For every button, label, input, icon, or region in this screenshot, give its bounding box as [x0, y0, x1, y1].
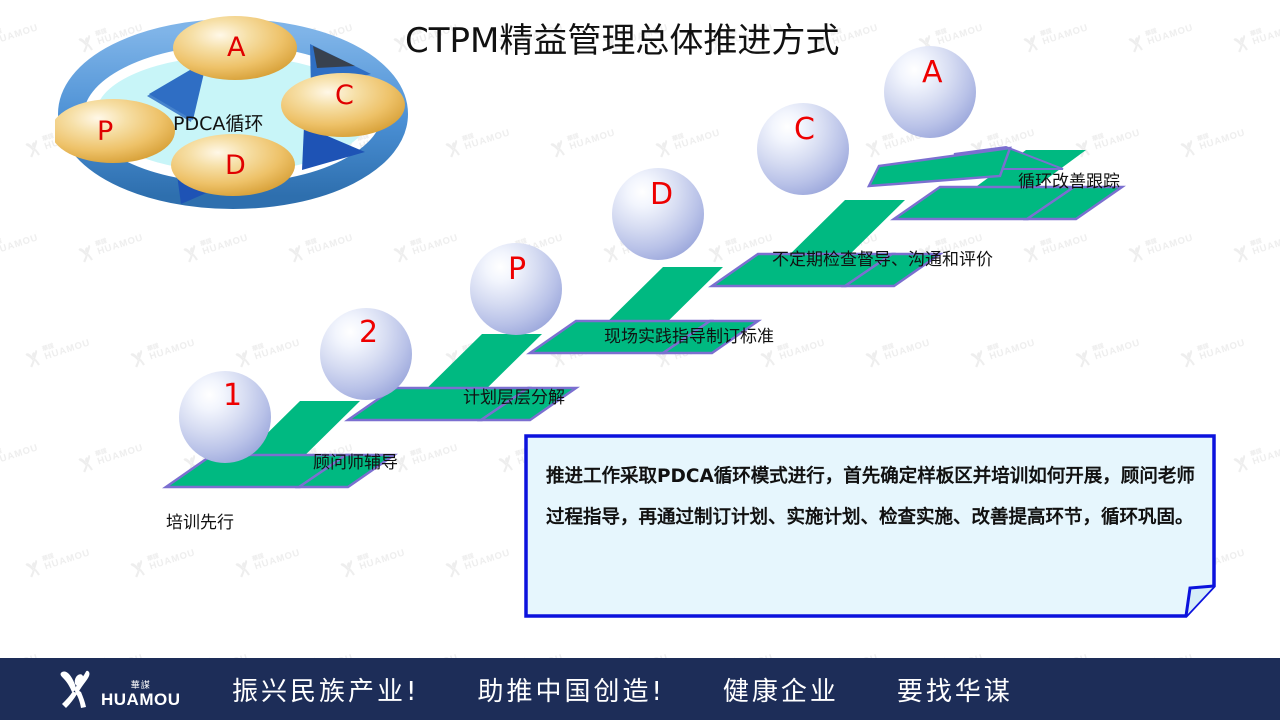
footer-logo-text: 華謀 HUAMOU — [101, 681, 181, 712]
pdca-cycle-diagram: PDCA循环 A C D P — [55, 8, 420, 218]
pdca-node-p — [55, 99, 175, 163]
huamou-logo-icon — [52, 666, 98, 712]
step-caption-2: 顾问师辅导 — [313, 448, 398, 473]
step-sphere-label-3: P — [508, 255, 526, 285]
step-sphere-5: C — [757, 103, 849, 195]
pdca-label-p: P — [97, 118, 113, 145]
footer-slogans: 振兴民族产业! 助推中国创造! 健康企业 要找华谋 — [232, 658, 1013, 720]
footer-slogan-2: 助推中国创造! — [477, 671, 664, 708]
step-sphere-label-6: A — [922, 58, 943, 88]
pdca-label-a: A — [227, 34, 245, 61]
step-sphere-4: D — [612, 168, 704, 260]
step-sphere-3: P — [470, 243, 562, 335]
footer-logo-en: HUAMOU — [101, 691, 181, 708]
step-sphere-6: A — [884, 46, 976, 138]
step-caption-6: 循环改善跟踪 — [1018, 167, 1120, 192]
step-caption-3: 计划层层分解 — [463, 383, 565, 408]
pdca-label-c: C — [335, 82, 354, 109]
footer-slogan-3: 健康企业 — [723, 671, 839, 708]
footer-logo: 華謀 HUAMOU — [52, 666, 181, 712]
step-sphere-label-5: C — [794, 115, 815, 145]
summary-note-box: 推进工作采取PDCA循环模式进行，首先确定样板区并培训如何开展，顾问老师过程指导… — [524, 434, 1216, 618]
step-sphere-label-1: 1 — [223, 381, 242, 411]
summary-note-text: 推进工作采取PDCA循环模式进行，首先确定样板区并培训如何开展，顾问老师过程指导… — [546, 456, 1198, 538]
pdca-center-label: PDCA循环 — [173, 109, 263, 136]
step-sphere-1: 1 — [179, 371, 271, 463]
footer-logo-cn: 華謀 — [101, 681, 181, 690]
step-sphere-2: 2 — [320, 308, 412, 400]
step-sphere-label-4: D — [650, 180, 673, 210]
page-title: CTPM精益管理总体推进方式 — [405, 20, 839, 62]
pdca-label-d: D — [225, 152, 246, 179]
step-caption-4: 现场实践指导制订标准 — [604, 322, 774, 347]
step-sphere-label-2: 2 — [359, 318, 378, 348]
footer-slogan-1: 振兴民族产业! — [232, 671, 419, 708]
step-caption-5: 不定期检查督导、沟通和评价 — [772, 245, 993, 270]
step-caption-1: 培训先行 — [166, 508, 234, 533]
footer-slogan-4: 要找华谋 — [897, 671, 1013, 708]
footer-bar: 華謀 HUAMOU 振兴民族产业! 助推中国创造! 健康企业 要找华谋 — [0, 658, 1280, 720]
